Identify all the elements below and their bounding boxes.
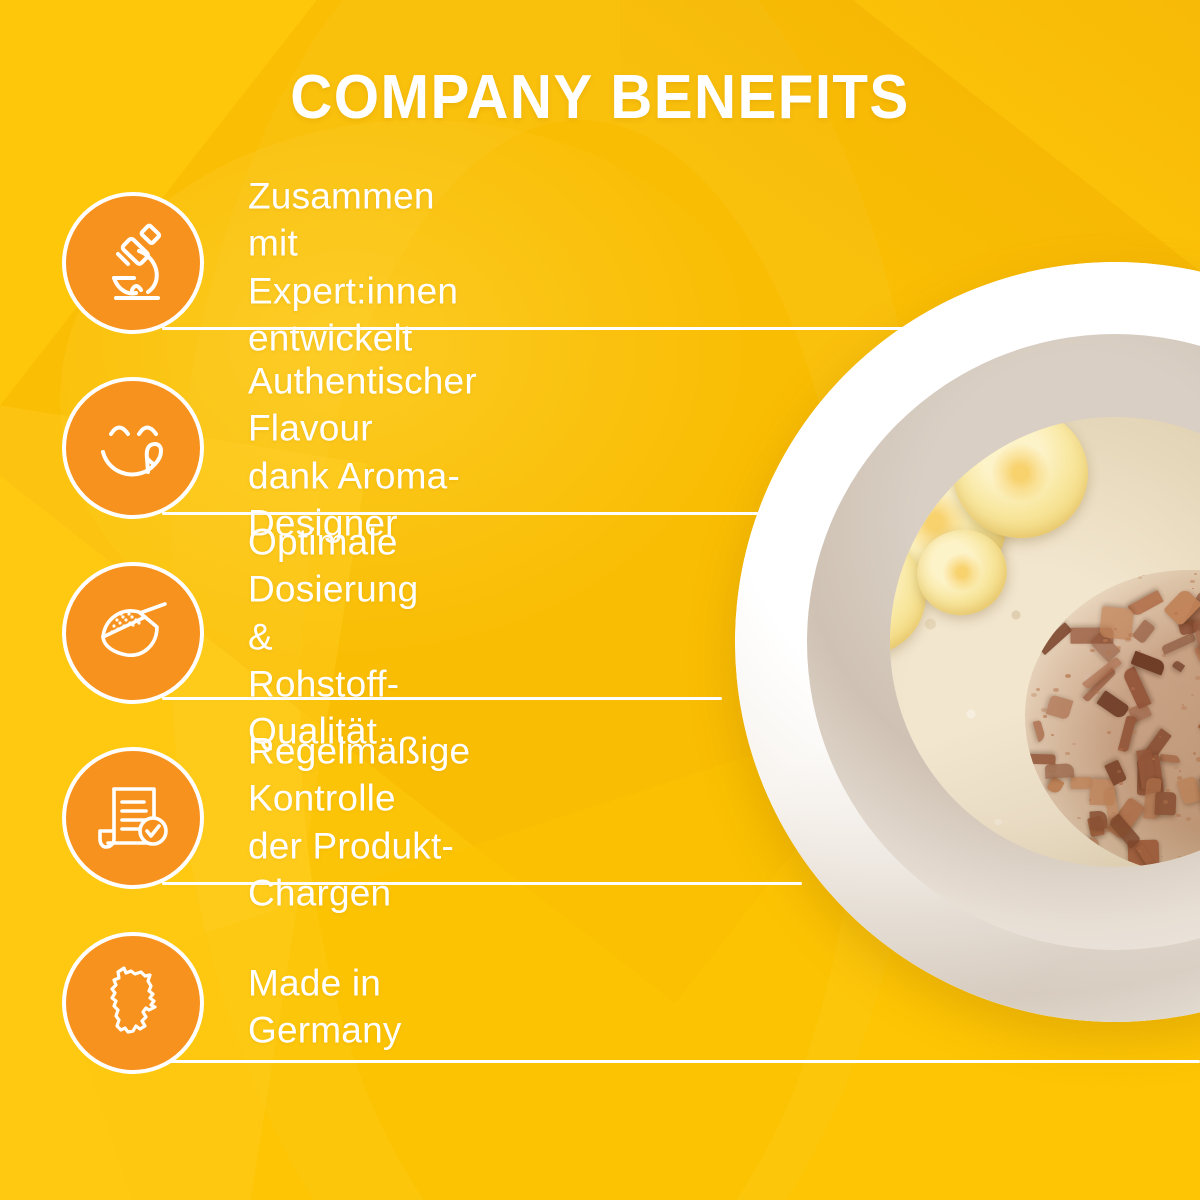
yummy-smiley-icon [62, 377, 204, 519]
certificate-check-icon [62, 747, 204, 889]
measuring-scoop-icon [62, 562, 204, 704]
benefit-label: Regelmäßige Kontrolle der Produkt-Charge… [248, 727, 470, 916]
benefit-list: Zusammen mit Expert:innen entwickelt Aut… [0, 0, 1200, 1200]
benefit-label: Made in Germany [248, 960, 402, 1055]
microscope-icon [62, 192, 204, 334]
benefit-label: Optimale Dosierung & Rohstoff-Qualität [248, 519, 418, 756]
company-benefits-graphic: COMPANY BENEFITS Zusammen mit Expert:inn [0, 0, 1200, 1200]
germany-map-icon [62, 932, 204, 1074]
benefit-label: Zusammen mit Expert:innen entwickelt [248, 172, 458, 361]
